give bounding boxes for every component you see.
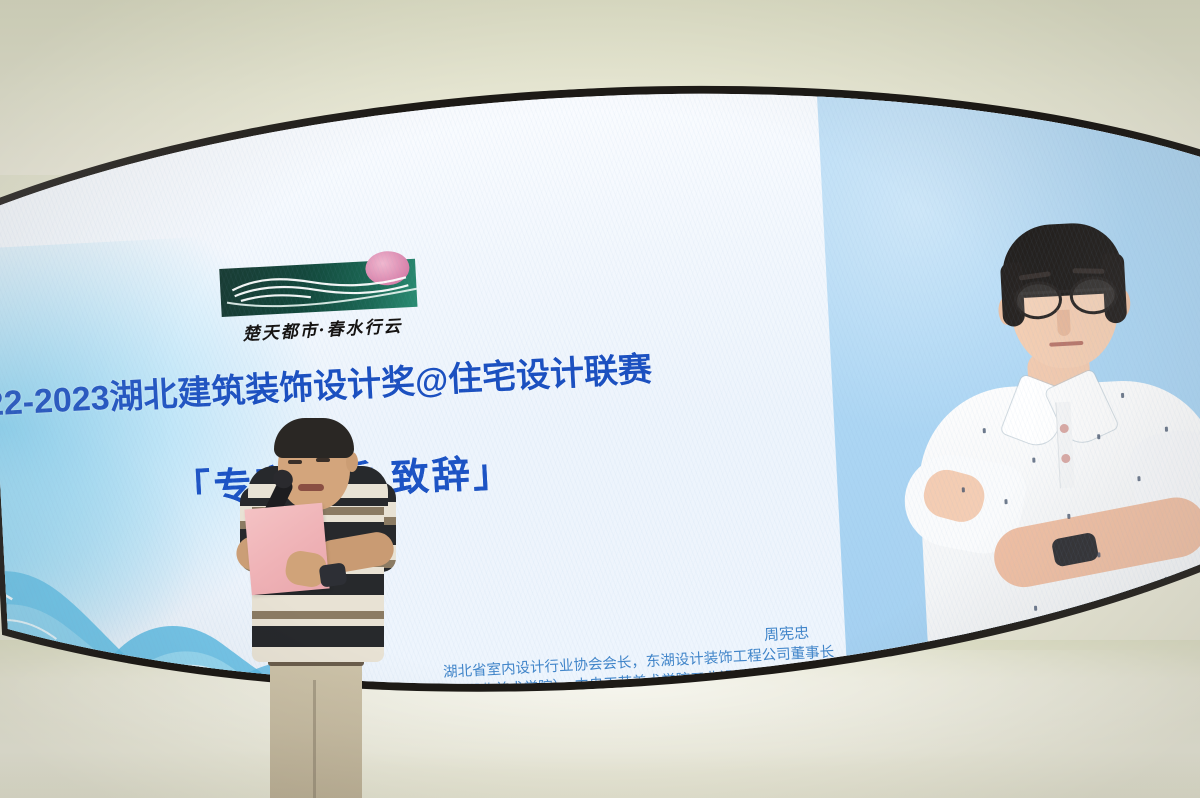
portrait-button-2 [1061,454,1070,463]
presenter-hair [274,418,354,458]
photo-scene: 楚天都市·春水行云 022-2023湖北建筑装饰设计奖@住宅设计联赛 「专家评委… [0,0,1200,798]
presenter-trousers [270,660,362,798]
speaker-portrait-photo [817,76,1200,662]
screen-surface: 楚天都市·春水行云 022-2023湖北建筑装饰设计奖@住宅设计联赛 「专家评委… [0,65,1200,712]
presenter-eye-left [288,460,302,464]
event-logo: 楚天都市·春水行云 [219,259,423,346]
presenter-wristwatch-icon [319,562,348,587]
portrait-button-1 [1060,424,1069,433]
presenter-trouser-seam [313,680,316,798]
presenter-eye-right [316,458,330,462]
logo-mark-icon [219,259,417,317]
curved-led-screen: 楚天都市·春水行云 022-2023湖北建筑装饰设计奖@住宅设计联赛 「专家评委… [0,88,1200,688]
portrait-nose [1057,310,1071,337]
portrait-eyebrow-right [1073,268,1105,274]
presentation-slide: 楚天都市·春水行云 022-2023湖北建筑装饰设计奖@住宅设计联赛 「专家评委… [0,65,1200,712]
presenter-mouth [298,484,324,491]
logo-wave-lines-icon [219,259,417,317]
